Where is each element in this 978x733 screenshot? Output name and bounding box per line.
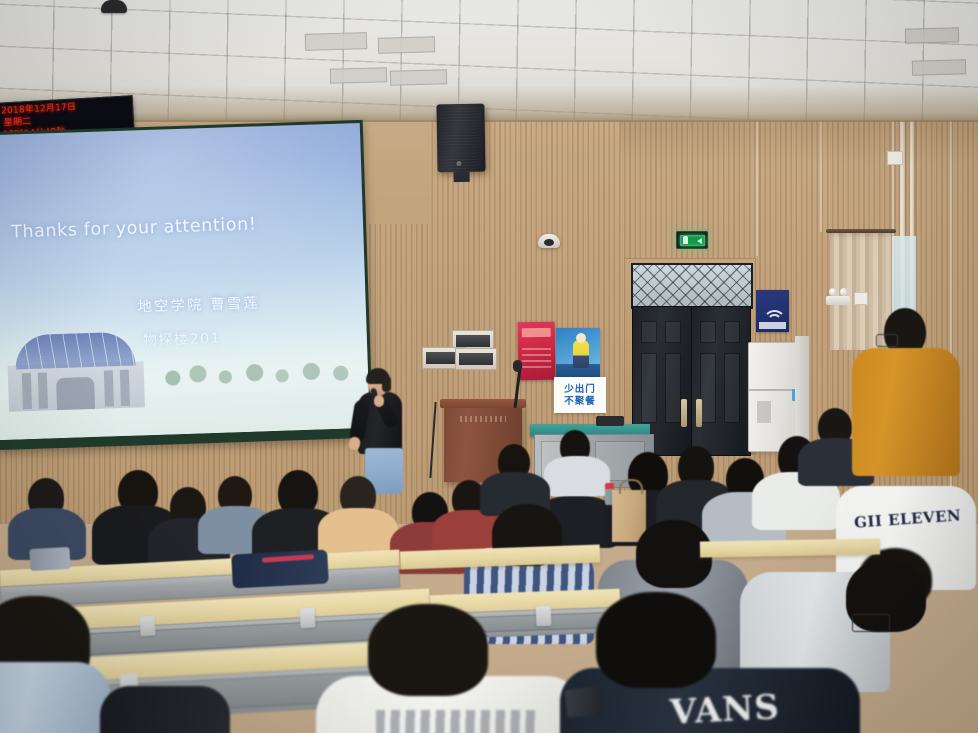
curtain-rod [826,229,896,233]
door-panel-br [665,353,681,423]
emergency-lamp-right-icon [840,288,848,296]
ceiling-camera-dome-icon [101,0,127,13]
door-panel-br2 [724,353,740,423]
phone-on-desk [565,686,604,718]
covid-notice-sign: 少出门 不聚餐 [554,377,606,413]
slide-treeline [155,348,366,389]
door-panel-tr2 [724,321,740,343]
slide-building-column-1 [22,373,32,409]
transom-security-mesh [633,265,751,307]
door-handle-left[interactable] [681,399,687,427]
speaker-mount-bracket [454,172,470,182]
jacket-text-gii-eleven: GII ELEVEN [854,506,962,531]
ceiling-wall-shadow [0,86,978,122]
speaker-grille [439,107,482,170]
ceiling-vent-5 [905,27,959,44]
emergency-lamp-left-icon [829,288,837,296]
exit-arrow-icon [697,238,702,244]
presenter-hair-side [382,376,391,392]
wifi-poster [756,290,789,332]
ceiling-vent-3 [330,67,387,84]
poster-blue-face-icon [576,333,586,343]
wall-junction-box [887,151,903,165]
door-panel-bl [641,353,657,423]
foreground-head-center [368,604,488,696]
wall-speaker [436,104,485,173]
electrical-panel-right [455,348,497,370]
exit-sign-face [680,235,705,246]
emergency-light-unit [826,296,850,305]
eyeglasses-icon [852,614,890,632]
foreground-dark-shirt [100,686,230,733]
door-panel-tl [641,321,657,343]
covid-sign-line-1: 少出门 [564,384,596,395]
slide-affiliation: 地空学院 曹雪莲 [137,292,260,316]
ceiling-vent-4 [390,69,447,86]
wifi-poster-caption-bar [759,322,786,329]
audience-shoulders [544,456,610,496]
poster-blue-figure [573,340,589,368]
door-panel-bl2 [700,353,716,423]
vans-jacket: VANS [560,668,860,733]
slide-building-column-3 [104,370,114,406]
lecture-hall-photo: 2018年12月17日 星期二 08时04分48秒 Thanks for you… [0,0,978,733]
panel-window-1 [456,335,490,347]
jacket-text-vans: VANS [669,687,781,733]
security-camera [538,234,560,248]
ceiling-vent-1 [305,32,367,51]
microphone-head-icon [513,360,522,372]
poster-blue [556,328,600,380]
standing-person-shirt [852,348,960,476]
door-leaf-right[interactable] [691,306,751,456]
lectern-nameplate [460,416,506,422]
foreground-head-right [596,592,716,688]
slide-building-column-2 [38,372,48,408]
cabinet-side-panel [795,336,809,448]
ceiling-vent-2 [378,36,435,54]
panel-window-3 [459,353,493,365]
covid-sign-line-2: 不聚餐 [564,396,596,407]
running-person-icon [683,236,688,244]
projection-screen: Thanks for your attention! 地空学院 曹雪莲 物探楼2… [0,123,370,440]
door-panel-tr [665,321,681,343]
ceiling-vent-6 [912,59,966,76]
tshirt-graphic-print [376,710,536,733]
bag-on-desk [29,547,70,571]
slide-building-dome [15,332,136,370]
camera-lens-icon [544,239,554,246]
cabinet-latch [757,401,771,423]
projection-screen-frame: Thanks for your attention! 地空学院 曹雪莲 物探楼2… [0,120,373,450]
light-switch-plate[interactable] [854,292,868,305]
presenter-hand-right [374,395,384,407]
bag-handle [619,479,643,494]
desk-clip [299,608,315,629]
slide-building-arch [56,377,95,410]
poster-red [518,322,556,381]
door-handle-right[interactable] [696,399,702,427]
door-panel-tl2 [700,321,716,343]
slide-campus-photo [0,318,370,440]
desk-clip [139,616,155,637]
av-equipment-box [596,416,624,426]
exit-sign [676,231,708,249]
speaker-indicator-icon [456,161,461,166]
slide-building-column-4 [120,370,130,406]
desk-row-far-right [700,538,880,557]
door-transom-window [631,263,753,309]
foreground-light-blue-shirt [0,662,110,733]
eyeglasses-icon [876,334,898,347]
desk-clip [536,606,552,627]
folded-jacket-on-desk [231,550,329,589]
